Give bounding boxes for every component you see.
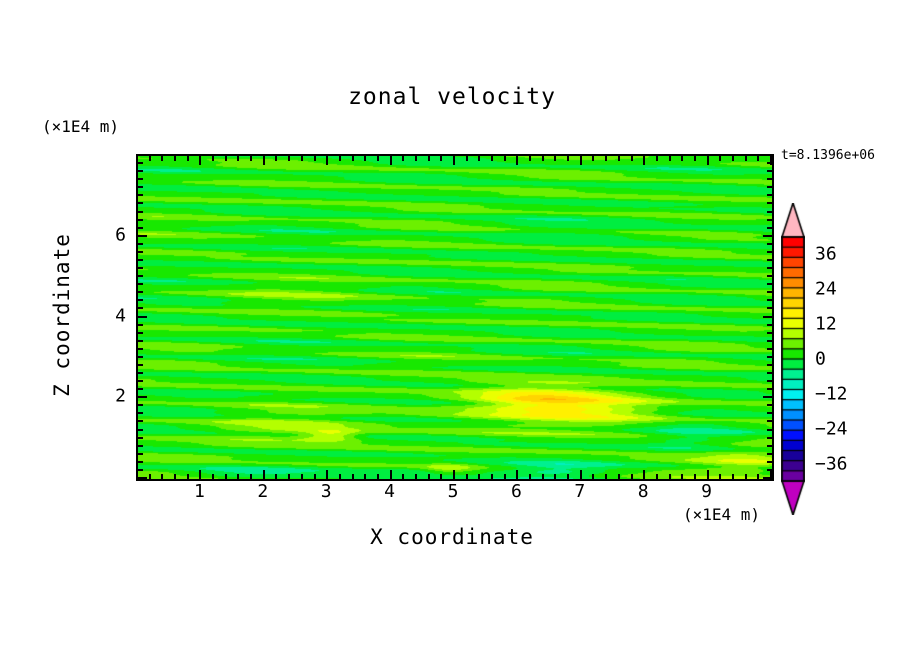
x-axis-units-label: (×1E4 m) bbox=[683, 505, 760, 524]
y-minor-tick bbox=[138, 211, 143, 213]
x-tick-label: 2 bbox=[257, 481, 268, 502]
y-major-tick bbox=[138, 477, 147, 479]
x-minor-tick bbox=[339, 474, 341, 479]
y-minor-tick bbox=[138, 162, 143, 164]
y-minor-tick bbox=[767, 412, 772, 414]
x-minor-tick bbox=[618, 156, 620, 161]
y-tick-label: 2 bbox=[96, 386, 126, 407]
y-minor-tick bbox=[767, 324, 772, 326]
x-minor-tick bbox=[161, 474, 163, 479]
x-minor-tick bbox=[288, 474, 290, 479]
y-minor-tick bbox=[138, 299, 143, 301]
y-minor-tick bbox=[767, 356, 772, 358]
colorbar-tick-label: 0 bbox=[815, 349, 826, 370]
y-minor-tick bbox=[138, 275, 143, 277]
x-minor-tick bbox=[301, 474, 303, 479]
y-minor-tick bbox=[767, 194, 772, 196]
x-major-tick bbox=[453, 470, 455, 479]
x-minor-tick bbox=[237, 156, 239, 161]
y-minor-tick bbox=[767, 243, 772, 245]
x-minor-tick bbox=[732, 474, 734, 479]
y-minor-tick bbox=[138, 219, 143, 221]
x-minor-tick bbox=[681, 156, 683, 161]
x-major-tick bbox=[643, 156, 645, 165]
x-minor-tick bbox=[745, 156, 747, 161]
y-minor-tick bbox=[138, 412, 143, 414]
y-minor-tick bbox=[138, 251, 143, 253]
timestamp-annotation: t=8.1396e+06 bbox=[781, 148, 875, 163]
y-minor-tick bbox=[767, 420, 772, 422]
y-minor-tick bbox=[767, 445, 772, 447]
x-major-tick bbox=[453, 156, 455, 165]
y-minor-tick bbox=[767, 259, 772, 261]
x-minor-tick bbox=[618, 474, 620, 479]
x-minor-tick bbox=[212, 156, 214, 161]
x-major-tick bbox=[516, 156, 518, 165]
colorbar-tick-label: 36 bbox=[815, 244, 837, 265]
y-minor-tick bbox=[138, 348, 143, 350]
x-minor-tick bbox=[681, 474, 683, 479]
x-minor-tick bbox=[466, 156, 468, 161]
x-minor-tick bbox=[314, 156, 316, 161]
x-minor-tick bbox=[314, 474, 316, 479]
y-minor-tick bbox=[138, 283, 143, 285]
y-minor-tick bbox=[138, 307, 143, 309]
x-tick-label: 8 bbox=[638, 481, 649, 502]
x-major-tick bbox=[707, 156, 709, 165]
x-minor-tick bbox=[631, 156, 633, 161]
x-minor-tick bbox=[554, 474, 556, 479]
y-minor-tick bbox=[138, 404, 143, 406]
x-minor-tick bbox=[757, 474, 759, 479]
x-major-tick bbox=[199, 470, 201, 479]
colorbar-tick-label: 12 bbox=[815, 314, 837, 335]
colorbar: 3624120−12−24−36 bbox=[781, 203, 805, 515]
x-minor-tick bbox=[529, 474, 531, 479]
x-minor-tick bbox=[504, 474, 506, 479]
y-major-tick bbox=[763, 316, 772, 318]
y-minor-tick bbox=[767, 211, 772, 213]
x-minor-tick bbox=[415, 474, 417, 479]
x-minor-tick bbox=[440, 156, 442, 161]
x-major-tick bbox=[516, 470, 518, 479]
x-minor-tick bbox=[428, 156, 430, 161]
x-minor-tick bbox=[402, 474, 404, 479]
y-minor-tick bbox=[767, 178, 772, 180]
x-major-tick bbox=[580, 470, 582, 479]
x-minor-tick bbox=[237, 474, 239, 479]
x-major-tick bbox=[580, 156, 582, 165]
x-minor-tick bbox=[567, 474, 569, 479]
x-minor-tick bbox=[669, 156, 671, 161]
y-minor-tick bbox=[138, 469, 143, 471]
figure-canvas-root: zonal velocity (×1E4 m) t=8.1396e+06 123… bbox=[0, 0, 904, 654]
y-minor-tick bbox=[767, 202, 772, 204]
y-minor-tick bbox=[138, 259, 143, 261]
y-minor-tick bbox=[138, 324, 143, 326]
y-minor-tick bbox=[138, 186, 143, 188]
y-minor-tick bbox=[767, 380, 772, 382]
page-title: zonal velocity bbox=[0, 84, 904, 110]
y-minor-tick bbox=[767, 364, 772, 366]
y-minor-tick bbox=[138, 356, 143, 358]
colorbar-tick-label: −12 bbox=[815, 383, 848, 404]
y-minor-tick bbox=[138, 388, 143, 390]
x-minor-tick bbox=[656, 156, 658, 161]
x-minor-tick bbox=[440, 474, 442, 479]
x-tick-label: 1 bbox=[194, 481, 205, 502]
y-minor-tick bbox=[767, 219, 772, 221]
y-minor-tick bbox=[767, 283, 772, 285]
y-minor-tick bbox=[767, 170, 772, 172]
x-minor-tick bbox=[275, 156, 277, 161]
x-minor-tick bbox=[225, 474, 227, 479]
y-minor-tick bbox=[767, 388, 772, 390]
x-minor-tick bbox=[504, 156, 506, 161]
x-minor-tick bbox=[554, 156, 556, 161]
x-minor-tick bbox=[542, 156, 544, 161]
y-axis-units-label: (×1E4 m) bbox=[42, 117, 119, 136]
colorbar-tick-label: −24 bbox=[815, 418, 848, 439]
x-minor-tick bbox=[757, 156, 759, 161]
y-minor-tick bbox=[767, 461, 772, 463]
y-minor-tick bbox=[767, 307, 772, 309]
x-minor-tick bbox=[402, 156, 404, 161]
y-minor-tick bbox=[767, 437, 772, 439]
x-minor-tick bbox=[466, 474, 468, 479]
y-minor-tick bbox=[767, 275, 772, 277]
y-minor-tick bbox=[767, 291, 772, 293]
x-tick-label: 5 bbox=[448, 481, 459, 502]
y-minor-tick bbox=[767, 299, 772, 301]
y-minor-tick bbox=[767, 453, 772, 455]
x-minor-tick bbox=[592, 474, 594, 479]
y-minor-tick bbox=[138, 445, 143, 447]
x-minor-tick bbox=[250, 156, 252, 161]
y-minor-tick bbox=[767, 186, 772, 188]
x-minor-tick bbox=[491, 156, 493, 161]
colorbar-gradient bbox=[781, 203, 805, 515]
x-major-tick bbox=[199, 156, 201, 165]
y-major-tick bbox=[138, 396, 147, 398]
x-minor-tick bbox=[491, 474, 493, 479]
y-minor-tick bbox=[767, 429, 772, 431]
x-minor-tick bbox=[212, 474, 214, 479]
x-minor-tick bbox=[631, 474, 633, 479]
y-minor-tick bbox=[138, 420, 143, 422]
y-minor-tick bbox=[767, 251, 772, 253]
y-minor-tick bbox=[138, 453, 143, 455]
x-minor-tick bbox=[745, 474, 747, 479]
y-major-tick bbox=[138, 235, 147, 237]
plot-frame bbox=[136, 154, 774, 481]
x-minor-tick bbox=[225, 156, 227, 161]
y-minor-tick bbox=[138, 461, 143, 463]
x-minor-tick bbox=[161, 156, 163, 161]
x-tick-label: 4 bbox=[384, 481, 395, 502]
x-minor-tick bbox=[187, 156, 189, 161]
x-tick-label: 7 bbox=[574, 481, 585, 502]
x-major-tick bbox=[263, 470, 265, 479]
y-minor-tick bbox=[767, 162, 772, 164]
x-minor-tick bbox=[377, 474, 379, 479]
x-major-tick bbox=[326, 470, 328, 479]
y-minor-tick bbox=[138, 437, 143, 439]
x-minor-tick bbox=[339, 156, 341, 161]
x-minor-tick bbox=[605, 474, 607, 479]
colorbar-tick-label: −36 bbox=[815, 453, 848, 474]
x-minor-tick bbox=[352, 474, 354, 479]
x-major-tick bbox=[643, 470, 645, 479]
x-minor-tick bbox=[719, 156, 721, 161]
y-minor-tick bbox=[138, 380, 143, 382]
x-minor-tick bbox=[301, 156, 303, 161]
x-axis-title: X coordinate bbox=[0, 525, 904, 549]
y-minor-tick bbox=[138, 429, 143, 431]
x-minor-tick bbox=[478, 156, 480, 161]
y-major-tick bbox=[763, 154, 772, 156]
y-minor-tick bbox=[138, 372, 143, 374]
x-minor-tick bbox=[694, 474, 696, 479]
x-major-tick bbox=[326, 156, 328, 165]
x-minor-tick bbox=[377, 156, 379, 161]
x-minor-tick bbox=[732, 156, 734, 161]
y-minor-tick bbox=[138, 202, 143, 204]
y-minor-tick bbox=[138, 291, 143, 293]
y-minor-tick bbox=[767, 227, 772, 229]
x-minor-tick bbox=[187, 474, 189, 479]
x-minor-tick bbox=[415, 156, 417, 161]
x-minor-tick bbox=[694, 156, 696, 161]
y-minor-tick bbox=[138, 178, 143, 180]
x-tick-label: 9 bbox=[701, 481, 712, 502]
x-minor-tick bbox=[592, 156, 594, 161]
x-minor-tick bbox=[149, 474, 151, 479]
x-minor-tick bbox=[478, 474, 480, 479]
y-major-tick bbox=[138, 316, 147, 318]
y-minor-tick bbox=[138, 340, 143, 342]
x-minor-tick bbox=[567, 156, 569, 161]
x-minor-tick bbox=[656, 474, 658, 479]
x-major-tick bbox=[707, 470, 709, 479]
y-minor-tick bbox=[767, 469, 772, 471]
y-minor-tick bbox=[138, 170, 143, 172]
contour-field bbox=[138, 156, 772, 479]
x-minor-tick bbox=[250, 474, 252, 479]
x-minor-tick bbox=[605, 156, 607, 161]
x-minor-tick bbox=[174, 474, 176, 479]
x-minor-tick bbox=[275, 474, 277, 479]
y-minor-tick bbox=[767, 348, 772, 350]
y-major-tick bbox=[763, 477, 772, 479]
x-minor-tick bbox=[542, 474, 544, 479]
y-minor-tick bbox=[138, 243, 143, 245]
y-major-tick bbox=[763, 396, 772, 398]
y-minor-tick bbox=[767, 332, 772, 334]
x-minor-tick bbox=[174, 156, 176, 161]
colorbar-tick-label: 24 bbox=[815, 279, 837, 300]
x-minor-tick bbox=[529, 156, 531, 161]
y-major-tick bbox=[763, 235, 772, 237]
x-tick-label: 6 bbox=[511, 481, 522, 502]
x-minor-tick bbox=[428, 474, 430, 479]
x-tick-label: 3 bbox=[321, 481, 332, 502]
x-minor-tick bbox=[149, 156, 151, 161]
x-minor-tick bbox=[288, 156, 290, 161]
y-minor-tick bbox=[138, 364, 143, 366]
x-minor-tick bbox=[669, 474, 671, 479]
y-minor-tick bbox=[767, 340, 772, 342]
x-major-tick bbox=[263, 156, 265, 165]
y-minor-tick bbox=[767, 267, 772, 269]
y-minor-tick bbox=[138, 227, 143, 229]
y-minor-tick bbox=[767, 372, 772, 374]
y-tick-label: 6 bbox=[96, 224, 126, 245]
x-minor-tick bbox=[719, 474, 721, 479]
y-minor-tick bbox=[767, 404, 772, 406]
y-major-tick bbox=[138, 154, 147, 156]
y-axis-title: Z coordinate bbox=[50, 233, 74, 397]
x-major-tick bbox=[390, 470, 392, 479]
y-minor-tick bbox=[138, 194, 143, 196]
y-minor-tick bbox=[138, 332, 143, 334]
x-major-tick bbox=[390, 156, 392, 165]
x-minor-tick bbox=[364, 474, 366, 479]
x-minor-tick bbox=[352, 156, 354, 161]
x-minor-tick bbox=[364, 156, 366, 161]
y-tick-label: 4 bbox=[96, 305, 126, 326]
y-minor-tick bbox=[138, 267, 143, 269]
